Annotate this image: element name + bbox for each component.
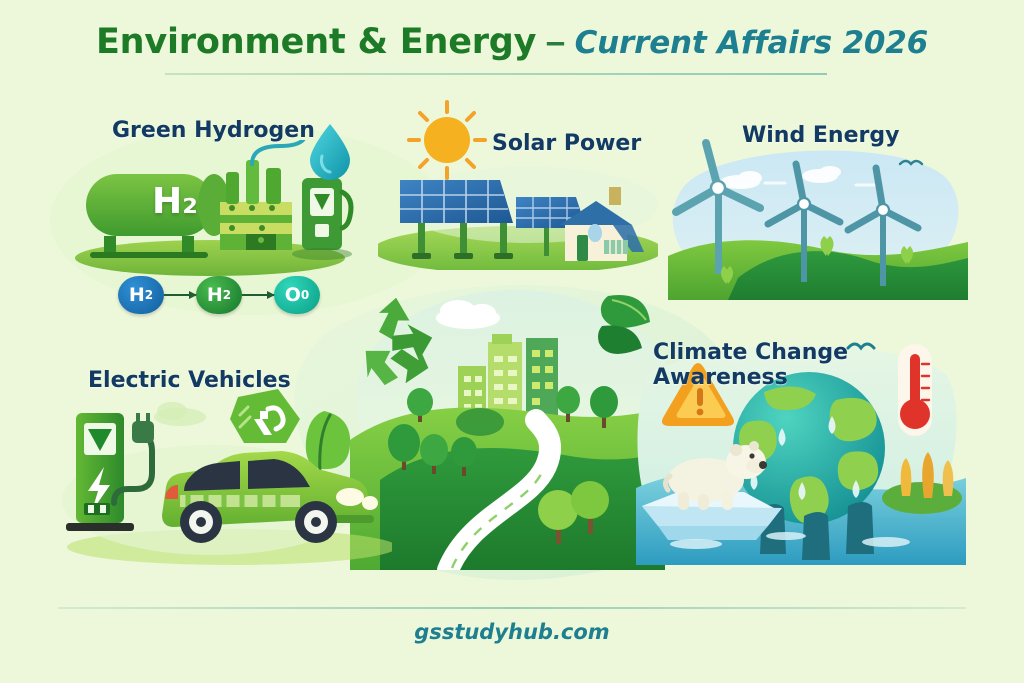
infographic-poster: Environment & Energy – Current Affairs 2… [0,0,1024,683]
molecule-sub: 2 [145,288,153,302]
title-divider [165,73,827,75]
heading-solar-power: Solar Power [492,132,641,157]
molecule-label: H [207,284,223,306]
molecule-badge-h2-blue: H2 [118,276,164,314]
thermometer-icon [898,344,932,436]
footer-website: gsstudyhub.com [0,620,1024,644]
heading-electric-vehicles: Electric Vehicles [88,369,291,394]
sun-icon [424,117,470,163]
title-dash: – [536,22,574,61]
solar-power-illustration [378,100,658,270]
charging-plug-icon [132,421,154,443]
wind-energy-illustration [668,138,968,300]
car-headlight [336,488,364,506]
electric-vehicles-illustration [62,385,392,565]
plant-chimney-2 [246,160,259,204]
title-main: Environment & Energy [96,22,536,62]
land-dark [380,448,665,570]
bird-icon [848,344,874,348]
plant-chimney-1 [226,172,239,204]
hydrogen-tank-label-text: H₂ [152,181,198,222]
page-title: Environment & Energy – Current Affairs 2… [0,22,1024,62]
heading-wind-energy: Wind Energy [742,124,899,149]
hydrogen-molecule-chain: H2 H2 O0 [118,276,320,314]
molecule-badge-o0-teal: O0 [274,276,320,314]
molecule-badge-h2-green: H2 [196,276,242,314]
heading-climate-change: Climate Change Awareness [653,341,848,390]
molecule-arrow-1 [164,294,196,296]
molecule-label: H [129,284,145,306]
hydrogen-tank-label: H₂ [152,181,198,222]
footer-divider [58,607,966,609]
ev-plug-badge [230,389,300,443]
molecule-sub: 2 [223,288,231,302]
molecule-label: O [285,284,301,306]
plant-chimney-3 [266,168,281,204]
title-subtitle: Current Affairs 2026 [575,25,928,61]
molecule-sub: 0 [301,288,309,302]
molecule-arrow-2 [242,294,274,296]
heading-green-hydrogen: Green Hydrogen [112,119,315,144]
